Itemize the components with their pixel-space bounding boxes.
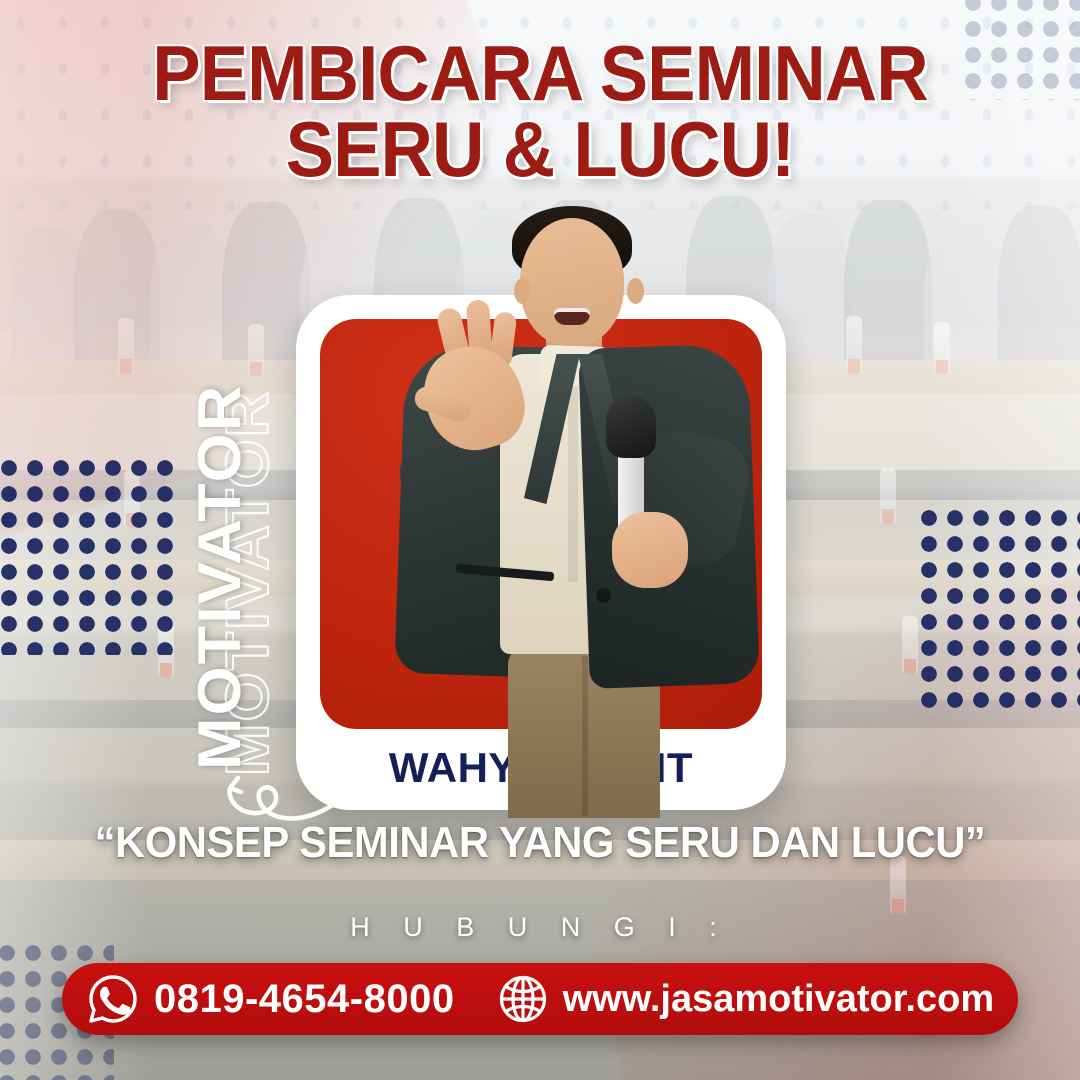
whatsapp-icon — [86, 972, 140, 1026]
speaker-card: WAHYUDI SMT — [296, 295, 786, 810]
contact-heading: H U B U N G I : — [0, 912, 1080, 943]
dot-grid-top-right — [960, 0, 1080, 100]
motivator-text-solid: MOTIVATOR — [185, 384, 254, 770]
website-url: www.jasamotivator.com — [563, 978, 995, 1021]
phone-contact[interactable]: 0819-4654-8000 — [86, 972, 455, 1026]
globe-icon — [497, 973, 549, 1025]
phone-number: 0819-4654-8000 — [154, 977, 455, 1022]
promo-poster: PEMBICARA SEMINAR SERU & LUCU! MOTIVATOR… — [0, 0, 1080, 1080]
dot-grid-right — [916, 505, 1080, 710]
dot-grid-left — [0, 455, 181, 655]
quote-text: “KONSEP SEMINAR YANG SERU DAN LUCU” — [27, 818, 1053, 868]
website-contact[interactable]: www.jasamotivator.com — [497, 973, 995, 1025]
speaker-photo-frame — [320, 319, 762, 729]
contact-bar: 0819-4654-8000 www.jasamotivator.com — [62, 963, 1018, 1035]
